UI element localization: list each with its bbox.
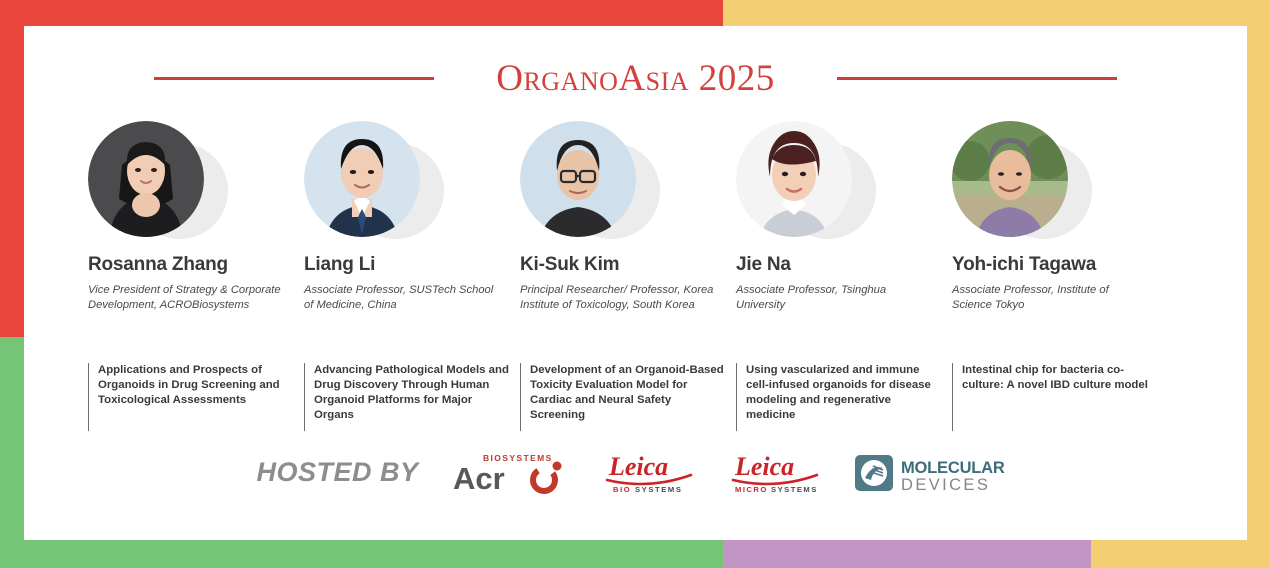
speaker-card: Jie Na Associate Professor, Tsinghua Uni…	[730, 121, 946, 313]
speaker-affiliation: Vice President of Strategy & Corporate D…	[88, 283, 284, 313]
speaker-card: Ki-Suk Kim Principal Researcher/ Profess…	[514, 121, 730, 313]
speaker-affiliation: Principal Researcher/ Professor, Korea I…	[520, 283, 716, 313]
frame-bar-top-red	[0, 0, 723, 26]
svg-text:Leica: Leica	[608, 452, 668, 481]
leica-biosystems-logo: Leica BIO SYSTEMS	[603, 449, 695, 495]
frame-bar-bottom-yellow	[1091, 540, 1269, 568]
svg-text:BIO: BIO	[613, 485, 631, 494]
svg-text:SYSTEMS: SYSTEMS	[635, 485, 683, 494]
speaker-talk: Advancing Pathological Models and Drug D…	[304, 363, 510, 431]
svg-text:Acr: Acr	[453, 461, 505, 495]
speaker-name: Jie Na	[736, 255, 946, 276]
speaker-card: Yoh-ichi Tagawa Associate Professor, Ins…	[946, 121, 1162, 313]
speaker-talk: Using vascularized and immune cell-infus…	[736, 363, 942, 431]
speaker-name: Ki-Suk Kim	[520, 255, 730, 276]
talk-title: Intestinal chip for bacteria co-culture:…	[962, 363, 1158, 393]
avatar	[736, 121, 852, 237]
frame-bar-right-yellow	[1247, 0, 1269, 568]
svg-text:SYSTEMS: SYSTEMS	[771, 485, 818, 494]
speaker-talk: Intestinal chip for bacteria co-culture:…	[952, 363, 1158, 431]
speaker-name: Rosanna Zhang	[88, 255, 298, 276]
avatar	[520, 121, 636, 237]
speaker-talk: Applications and Prospects of Organoids …	[88, 363, 294, 431]
talk-title: Development of an Organoid-Based Toxicit…	[530, 363, 726, 423]
speaker-affiliation: Associate Professor, Tsinghua University	[736, 283, 932, 313]
svg-text:MOLECULAR: MOLECULAR	[901, 459, 1005, 477]
speaker-photo	[88, 121, 238, 241]
poster: OrganoAsia 2025	[0, 0, 1269, 568]
talk-title: Using vascularized and immune cell-infus…	[746, 363, 942, 423]
title-rule-right	[837, 77, 1117, 80]
avatar	[952, 121, 1068, 237]
molecular-devices-logo: MOLECULAR DEVICES	[855, 449, 1015, 495]
frame-bar-left-green	[0, 337, 24, 568]
poster-card: OrganoAsia 2025	[24, 26, 1247, 540]
speaker-photo	[520, 121, 670, 241]
frame-bar-top-yellow	[723, 0, 1269, 26]
avatar	[88, 121, 204, 237]
title-rule-left	[154, 77, 434, 80]
event-title: OrganoAsia 2025	[496, 60, 775, 97]
speaker-talk: Development of an Organoid-Based Toxicit…	[520, 363, 726, 431]
svg-text:MICRO: MICRO	[735, 485, 768, 494]
speaker-affiliation: Associate Professor, SUSTech School of M…	[304, 283, 500, 313]
speaker-card: Rosanna Zhang Vice President of Strategy…	[82, 121, 298, 313]
speaker-card: Liang Li Associate Professor, SUSTech Sc…	[298, 121, 514, 313]
sponsors-footer: HOSTED BY BIOSYSTEMS Acr Leica BIO SYSTE…	[24, 440, 1247, 504]
speaker-photo	[952, 121, 1102, 241]
frame-bar-bottom-green	[0, 540, 723, 568]
speakers-list: Rosanna Zhang Vice President of Strategy…	[82, 121, 1237, 313]
talk-title: Applications and Prospects of Organoids …	[98, 363, 294, 408]
svg-text:DEVICES: DEVICES	[901, 476, 990, 494]
leica-microsystems-logo: Leica MICRO SYSTEMS	[729, 449, 821, 495]
speaker-name: Liang Li	[304, 255, 514, 276]
talk-title: Advancing Pathological Models and Drug D…	[314, 363, 510, 423]
speaker-photo	[304, 121, 454, 241]
avatar	[304, 121, 420, 237]
speaker-affiliation: Associate Professor, Institute of Scienc…	[952, 283, 1148, 313]
speaker-photo	[736, 121, 886, 241]
svg-text:Leica: Leica	[734, 452, 794, 481]
acro-biosystems-logo: BIOSYSTEMS Acr	[453, 449, 569, 495]
frame-bar-left-red	[0, 0, 24, 337]
title-row: OrganoAsia 2025	[24, 48, 1247, 108]
speaker-name: Yoh-ichi Tagawa	[952, 255, 1162, 276]
frame-bar-bottom-purple	[723, 540, 1091, 568]
hosted-by-label: HOSTED BY	[256, 457, 418, 488]
